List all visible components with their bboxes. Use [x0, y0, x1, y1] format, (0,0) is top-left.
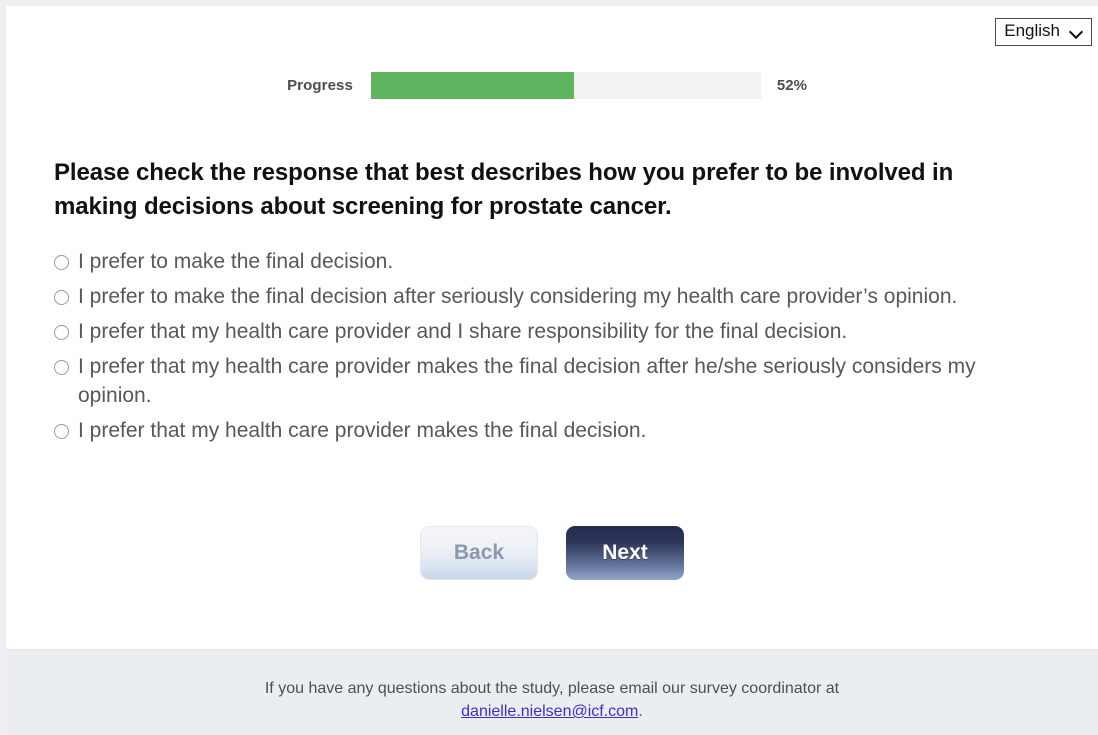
- footer-text-after: .: [638, 703, 642, 720]
- progress-bar-fill: [371, 72, 574, 99]
- option-item[interactable]: I prefer to make the final decision afte…: [54, 281, 1054, 312]
- progress-bar-track: [371, 72, 761, 99]
- option-item[interactable]: I prefer that my health care provider ma…: [54, 351, 1054, 411]
- progress-row: Progress 52%: [6, 72, 1098, 99]
- option-label: I prefer that my health care provider ma…: [78, 415, 646, 446]
- language-select-value: English: [1004, 22, 1060, 41]
- footer-text-before: If you have any questions about the stud…: [265, 680, 839, 697]
- language-selector-wrapper: English: [995, 18, 1092, 46]
- question-content: Please check the response that best desc…: [54, 156, 1054, 450]
- progress-percent-text: 52%: [777, 77, 817, 94]
- chevron-down-icon: [1070, 25, 1083, 38]
- radio-button[interactable]: [54, 255, 69, 270]
- option-label: I prefer that my health care provider ma…: [78, 351, 1053, 411]
- coordinator-email-link[interactable]: danielle.nielsen@icf.com: [461, 703, 638, 720]
- options-list: I prefer to make the final decision. I p…: [54, 246, 1054, 446]
- radio-button[interactable]: [54, 424, 69, 439]
- language-select[interactable]: English: [995, 18, 1092, 46]
- option-label: I prefer to make the final decision afte…: [78, 281, 957, 312]
- option-label: I prefer that my health care provider an…: [78, 316, 847, 347]
- option-item[interactable]: I prefer that my health care provider ma…: [54, 415, 1054, 446]
- page-footer: If you have any questions about the stud…: [6, 649, 1098, 735]
- radio-button[interactable]: [54, 325, 69, 340]
- progress-label: Progress: [287, 77, 353, 94]
- navigation-buttons: Back Next: [6, 526, 1098, 580]
- next-button[interactable]: Next: [566, 526, 684, 580]
- radio-button[interactable]: [54, 360, 69, 375]
- option-item[interactable]: I prefer that my health care provider an…: [54, 316, 1054, 347]
- option-item[interactable]: I prefer to make the final decision.: [54, 246, 1054, 277]
- back-button[interactable]: Back: [420, 526, 538, 580]
- footer-message: If you have any questions about the stud…: [265, 677, 839, 723]
- radio-button[interactable]: [54, 290, 69, 305]
- option-label: I prefer to make the final decision.: [78, 246, 393, 277]
- survey-page: English Progress 52% Please check the re…: [6, 6, 1098, 735]
- question-text: Please check the response that best desc…: [54, 156, 999, 224]
